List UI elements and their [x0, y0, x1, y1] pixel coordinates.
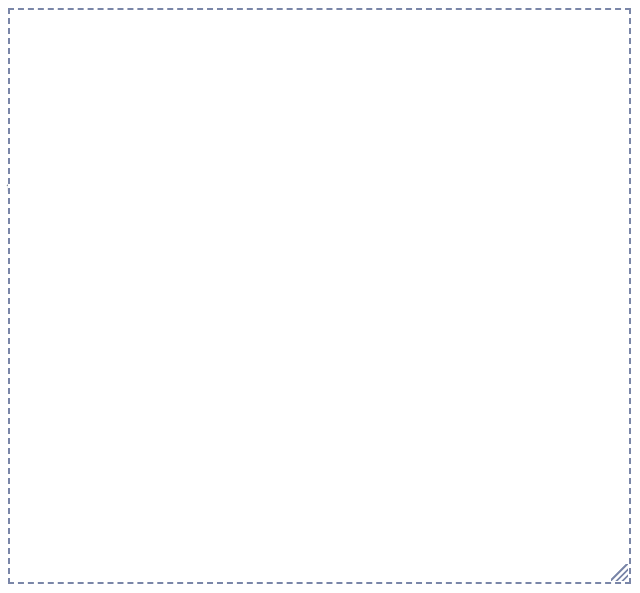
resize-handle-icon[interactable] — [611, 564, 628, 581]
canvas-frame — [8, 8, 631, 584]
